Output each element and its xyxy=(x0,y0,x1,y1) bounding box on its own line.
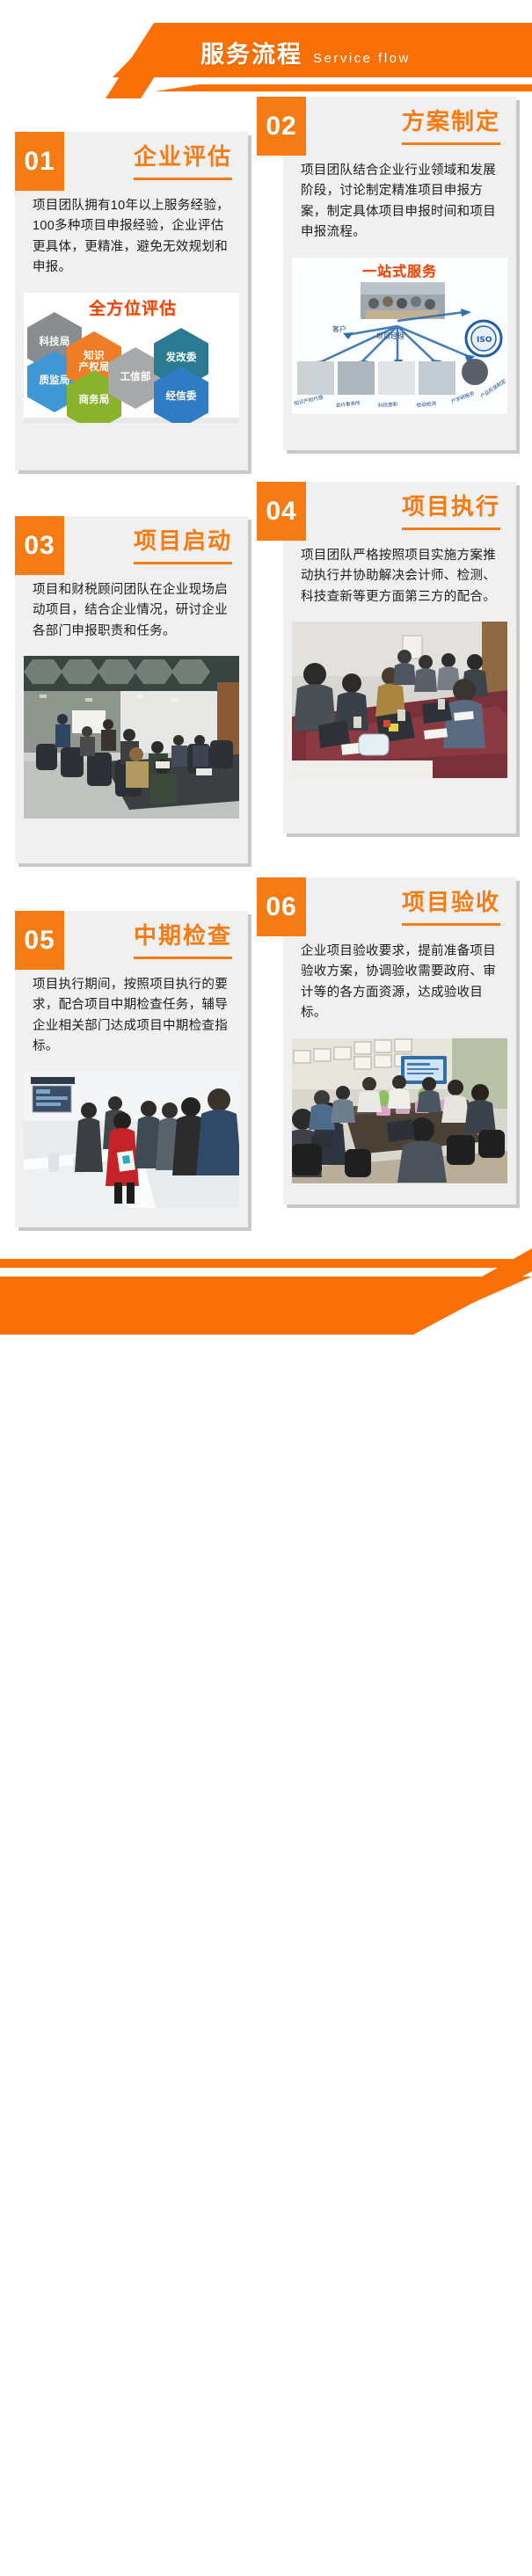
card-01-body: 项目团队拥有10年以上服务经验，100多种项目申报经验，企业评估更具体，更精准，… xyxy=(15,180,248,291)
card-04-media xyxy=(292,622,507,778)
photo-acceptance-svg xyxy=(292,1038,507,1183)
card-04-body: 项目团队严格按照项目实施方案推动执行并协助解决会计师、检测、科技查新等更方面第三… xyxy=(283,530,516,620)
one-stop-service-caption: 一站式服务 xyxy=(292,259,507,280)
card-06-media xyxy=(292,1038,507,1183)
footer-hotline-colon: ： xyxy=(142,2555,161,2573)
card-05-title: 中期检查 xyxy=(134,918,232,959)
footer-hotline-group: 全国统一热线 ： 400-150-1560 xyxy=(51,2547,327,2576)
one-stop-service-diagram: 客户 项目经理 ISO 知识产权代理 会计事务所 xyxy=(292,258,507,414)
service-flow-illustration: 客户 项目经理 ISO 知识产权代理 会计事务所 xyxy=(292,258,507,414)
footer-banner-shape xyxy=(0,1248,532,1352)
card-06-body: 企业项目验收要求，提前准备项目验收方案，协调验收需要政府、审计等的各方面资源，达… xyxy=(283,926,516,1037)
card-06-header: 项目验收 xyxy=(283,877,516,926)
photo-kickoff-svg xyxy=(24,656,239,819)
card-01-media: 全方位评估 科技局 质监局 知识 产权局 商务局 工信部 发改委 经信委 xyxy=(24,293,239,423)
card-02-header: 方案制定 xyxy=(283,97,516,145)
card-06-number-badge: 06 xyxy=(257,877,306,936)
footer-hotline-number[interactable]: 400-150-1560 xyxy=(163,2547,327,2576)
card-05-media xyxy=(24,1072,239,1208)
card-02-title: 方案制定 xyxy=(402,104,500,145)
card-03-body: 项目和财税顾问团队在企业现场启动项目，结合企业情况，研讨企业各部门申报职责和任务… xyxy=(15,564,248,654)
process-steps-grid: 企业评估 项目团队拥有10年以上服务经验，100多种项目申报经验，企业评估更具体… xyxy=(0,0,532,1248)
photo-project-kickoff xyxy=(24,656,239,819)
node-label-manager: 项目经理 xyxy=(376,331,404,340)
process-card-04[interactable]: 项目执行 项目团队严格按照项目实施方案推动执行并协助解决会计师、检测、科技查新等… xyxy=(283,482,516,833)
photo-mid-term-inspection xyxy=(24,1072,239,1208)
card-01-number-badge: 01 xyxy=(15,132,64,191)
process-card-06[interactable]: 项目验收 企业项目验收要求，提前准备项目验收方案，协调验收需要政府、审计等的各方… xyxy=(283,877,516,1204)
node-label-customer: 客户 xyxy=(332,324,346,333)
card-05-number-badge: 05 xyxy=(15,911,64,970)
card-04-number-badge: 04 xyxy=(257,482,306,541)
photo-inspection-svg xyxy=(24,1072,239,1208)
iso-badge-text: ISO xyxy=(477,336,492,345)
card-03-title: 项目启动 xyxy=(134,523,232,564)
photo-project-acceptance xyxy=(292,1038,507,1183)
card-02-media: 客户 项目经理 ISO 知识产权代理 会计事务所 xyxy=(292,258,507,414)
card-04-title: 项目执行 xyxy=(402,489,500,530)
footer-hotline-label: 全国统一热线 xyxy=(51,2552,141,2573)
card-03-media xyxy=(24,656,239,819)
hexagon-diagram-caption: 全方位评估 xyxy=(89,295,177,319)
page-footer: 全国统一热线 ： 400-150-1560 xyxy=(0,1248,532,1352)
photo-execution-svg xyxy=(292,622,507,778)
card-01-title: 企业评估 xyxy=(134,139,232,180)
hexagon-diagram: 全方位评估 科技局 质监局 知识 产权局 商务局 工信部 发改委 经信委 xyxy=(24,293,239,418)
card-02-body: 项目团队结合企业行业领域和发展阶段，讨论制定精准项目申报方案，制定具体项目申报时… xyxy=(283,145,516,256)
card-06-title: 项目验收 xyxy=(402,884,500,926)
process-card-02[interactable]: 方案制定 项目团队结合企业行业领域和发展阶段，讨论制定精准项目申报方案，制定具体… xyxy=(283,97,516,450)
card-05-body: 项目执行期间，按照项目执行的要求，配合项目中期检查任务，辅导企业相关部门达成项目… xyxy=(15,959,248,1070)
card-02-number-badge: 02 xyxy=(257,97,306,156)
card-03-number-badge: 03 xyxy=(15,516,64,575)
photo-project-execution xyxy=(292,622,507,778)
card-04-header: 项目执行 xyxy=(283,482,516,530)
